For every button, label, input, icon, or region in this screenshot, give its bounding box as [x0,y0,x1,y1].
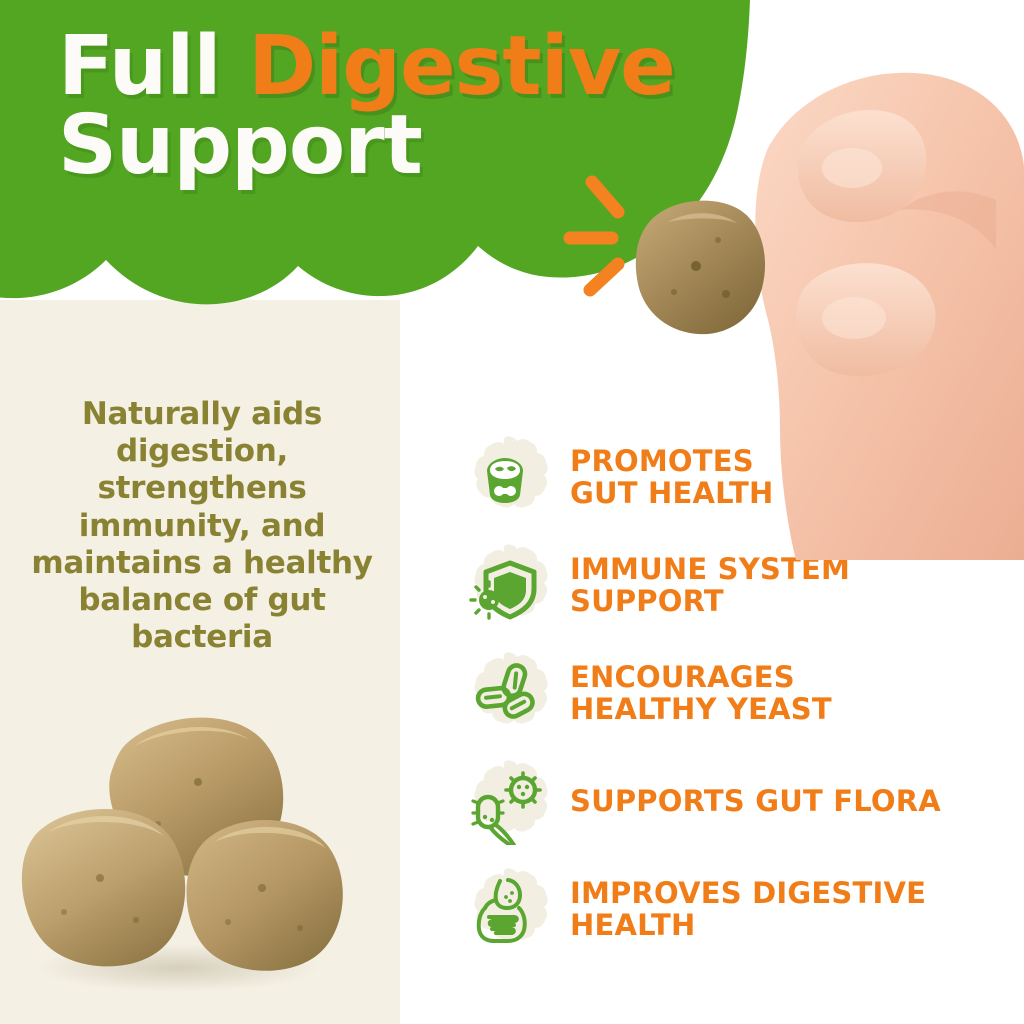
microbe-flora-icon [462,759,548,845]
benefit-row-supports-gut-flora[interactable]: SUPPORTS GUT FLORA [462,748,1022,856]
shield-virus-icon [462,543,548,629]
benefit-row-encourages-healthy-yeast[interactable]: ENCOURAGES HEALTHY YEAST [462,640,1022,748]
benefit-label: ENCOURAGES HEALTHY YEAST [570,662,832,726]
benefit-row-improves-digestive-health[interactable]: IMPROVES DIGESTIVE HEALTH [462,856,1022,964]
lead-paragraph: Naturally aids digestion, strengthens im… [22,396,382,656]
page-title: Full Digestive Support [58,28,698,185]
benefit-label: IMPROVES DIGESTIVE HEALTH [570,878,926,942]
bacteria-rods-icon [462,651,548,737]
treat-stack-photo [8,700,348,1024]
benefit-label: SUPPORTS GUT FLORA [570,786,941,818]
dog-bowl-icon [462,435,548,521]
benefit-row-promotes-gut-health[interactable]: PROMOTES GUT HEALTH [462,424,1022,532]
infographic-canvas: Full Digestive Support [0,0,1024,1024]
benefits-list: PROMOTES GUT HEALTH [462,424,1022,964]
sparkle-rays-icon [556,168,666,298]
benefit-row-immune-system-support[interactable]: IMMUNE SYSTEM SUPPORT [462,532,1022,640]
benefit-label: IMMUNE SYSTEM SUPPORT [570,554,850,618]
benefit-label: PROMOTES GUT HEALTH [570,446,774,510]
stomach-intestine-icon [462,867,548,953]
title-word-support: Support [58,98,422,193]
